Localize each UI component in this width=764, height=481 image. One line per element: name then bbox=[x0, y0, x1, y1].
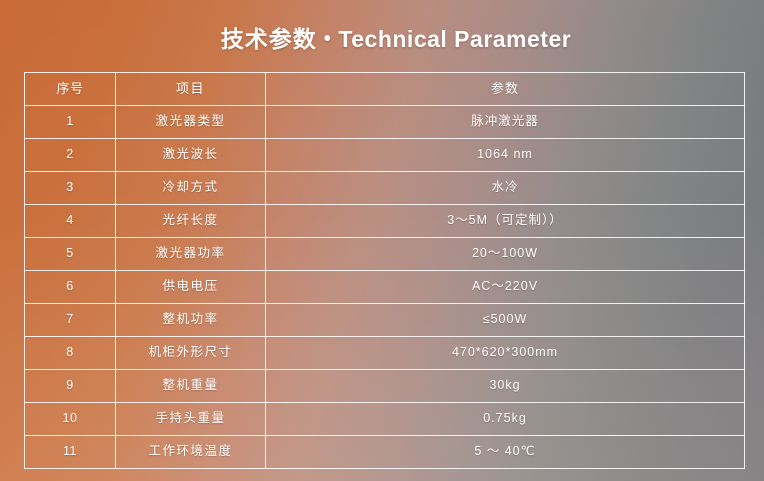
page-title-english: Technical Parameter bbox=[338, 26, 571, 52]
table-row: 7整机功率≤500W bbox=[25, 304, 745, 337]
cell-item: 供电电压 bbox=[116, 271, 266, 304]
cell-item: 冷却方式 bbox=[116, 172, 266, 205]
table-row: 10手持头重量0.75kg bbox=[25, 403, 745, 436]
cell-no: 4 bbox=[25, 205, 116, 238]
cell-item: 激光器类型 bbox=[116, 106, 266, 139]
cell-no: 6 bbox=[25, 271, 116, 304]
cell-value: 0.75kg bbox=[266, 403, 745, 436]
cell-item: 手持头重量 bbox=[116, 403, 266, 436]
table-row: 5激光器功率20～100W bbox=[25, 238, 745, 271]
cell-item: 机柜外形尺寸 bbox=[116, 337, 266, 370]
cell-value: 3～5M（可定制）） bbox=[266, 205, 745, 238]
page-title-text: 技术参数•Technical Parameter bbox=[221, 20, 571, 54]
table-row: 4光纤长度3～5M（可定制）） bbox=[25, 205, 745, 238]
cell-no: 7 bbox=[25, 304, 116, 337]
cell-no: 1 bbox=[25, 106, 116, 139]
cell-value: 1064 nm bbox=[266, 139, 745, 172]
column-header-no: 序号 bbox=[25, 73, 116, 106]
table-row: 1激光器类型脉冲激光器 bbox=[25, 106, 745, 139]
page-title-chinese: 技术参数 bbox=[221, 26, 317, 52]
cell-item: 工作环境温度 bbox=[116, 436, 266, 469]
cell-value: AC～220V bbox=[266, 271, 745, 304]
cell-no: 11 bbox=[25, 436, 116, 469]
cell-item: 整机功率 bbox=[116, 304, 266, 337]
cell-no: 8 bbox=[25, 337, 116, 370]
bullet-separator-icon: • bbox=[317, 28, 339, 51]
page-title: 技术参数•Technical Parameter bbox=[0, 20, 764, 54]
cell-item: 光纤长度 bbox=[116, 205, 266, 238]
table-row: 6供电电压AC～220V bbox=[25, 271, 745, 304]
cell-value: 5 ～ 40℃ bbox=[266, 436, 745, 469]
table-row: 8机柜外形尺寸470*620*300mm bbox=[25, 337, 745, 370]
table-row: 2激光波长1064 nm bbox=[25, 139, 745, 172]
cell-value: ≤500W bbox=[266, 304, 745, 337]
spec-sheet: 技术参数•Technical Parameter 序号 项目 参数 1激光器类型… bbox=[0, 0, 764, 481]
cell-item: 整机重量 bbox=[116, 370, 266, 403]
cell-value: 470*620*300mm bbox=[266, 337, 745, 370]
table-row: 11工作环境温度5 ～ 40℃ bbox=[25, 436, 745, 469]
table-row: 3冷却方式水冷 bbox=[25, 172, 745, 205]
cell-item: 激光波长 bbox=[116, 139, 266, 172]
cell-no: 9 bbox=[25, 370, 116, 403]
cell-no: 5 bbox=[25, 238, 116, 271]
cell-item: 激光器功率 bbox=[116, 238, 266, 271]
table-header-row: 序号 项目 参数 bbox=[25, 73, 745, 106]
cell-value: 脉冲激光器 bbox=[266, 106, 745, 139]
cell-no: 10 bbox=[25, 403, 116, 436]
cell-value: 水冷 bbox=[266, 172, 745, 205]
column-header-item: 项目 bbox=[116, 73, 266, 106]
cell-value: 30kg bbox=[266, 370, 745, 403]
cell-value: 20～100W bbox=[266, 238, 745, 271]
column-header-value: 参数 bbox=[266, 73, 745, 106]
table-body: 1激光器类型脉冲激光器2激光波长1064 nm3冷却方式水冷4光纤长度3～5M（… bbox=[25, 106, 745, 469]
table-row: 9整机重量30kg bbox=[25, 370, 745, 403]
table-header: 序号 项目 参数 bbox=[25, 73, 745, 106]
technical-parameter-table: 序号 项目 参数 1激光器类型脉冲激光器2激光波长1064 nm3冷却方式水冷4… bbox=[24, 72, 745, 469]
cell-no: 2 bbox=[25, 139, 116, 172]
cell-no: 3 bbox=[25, 172, 116, 205]
